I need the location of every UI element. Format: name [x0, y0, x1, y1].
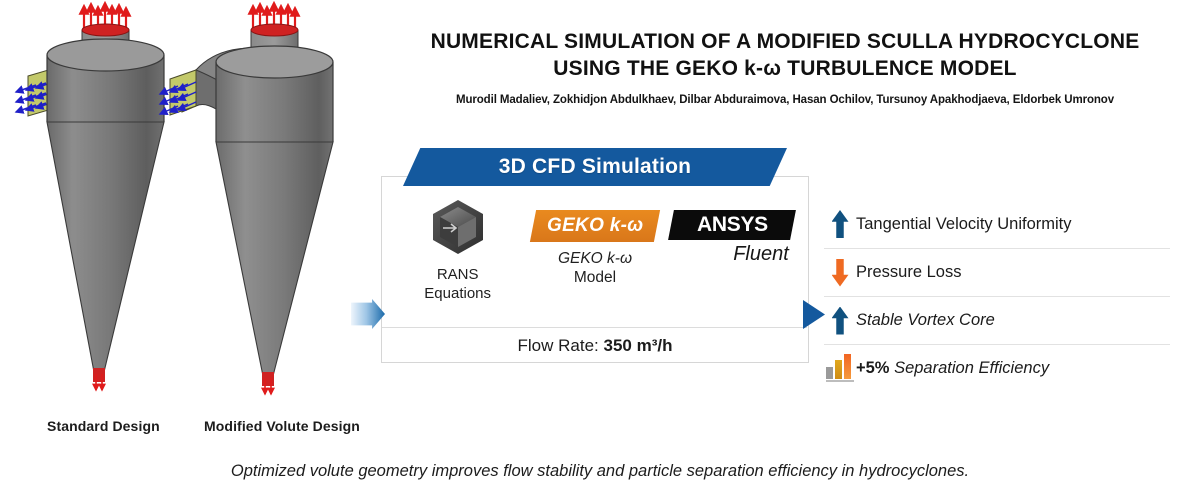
result-label: Pressure Loss	[856, 263, 961, 282]
arrow-down-icon	[824, 259, 856, 287]
flow-rate-label: Flow Rate:	[518, 336, 599, 356]
method-rans: RANS Equations	[395, 196, 520, 303]
panel-banner-title: 3D CFD Simulation	[403, 148, 787, 186]
geko-logo-text: GEKO k-ω	[547, 215, 643, 237]
ansys-logo-text: ANSYS	[697, 213, 768, 237]
method-rans-line1: RANS	[437, 266, 479, 283]
method-geko: GEKO k-ω GEKO k-ω Model	[532, 196, 657, 287]
outflow-arrow-icon	[803, 300, 825, 329]
method-geko-line1: GEKO k-ω	[558, 250, 632, 267]
cyclone-diagram-svg	[0, 0, 395, 450]
result-label: +5% Separation Efficiency	[856, 359, 1049, 378]
flow-rate-value: 350 m³/h	[604, 336, 673, 356]
cube-icon	[395, 196, 520, 258]
hydrocyclone-illustrations: Standard Design Modified Volute Design	[0, 0, 395, 450]
standard-cyclone-figure	[16, 3, 164, 390]
arrow-up-icon	[824, 210, 856, 238]
result-label: Tangential Velocity Uniformity	[856, 215, 1072, 234]
title-line-2: USING THE GEKO k-ω TURBULENCE MODEL	[370, 55, 1200, 82]
bar-chart-icon	[824, 356, 856, 382]
figure-caption: Optimized volute geometry improves flow …	[0, 462, 1200, 481]
graphical-abstract: Standard Design Modified Volute Design N…	[0, 0, 1200, 501]
method-rans-line2: Equations	[424, 285, 491, 302]
standard-design-label: Standard Design	[47, 418, 160, 434]
title-line-1: NUMERICAL SIMULATION OF A MODIFIED SCULL…	[370, 28, 1200, 55]
method-geko-caption: GEKO k-ω Model	[532, 249, 657, 287]
result-row: Stable Vortex Core	[824, 296, 1170, 344]
ansys-logo: ANSYS	[668, 210, 796, 240]
title-block: NUMERICAL SIMULATION OF A MODIFIED SCULL…	[370, 28, 1200, 106]
result-label: Stable Vortex Core	[856, 311, 995, 330]
separation-efficiency-value: +5%	[856, 359, 889, 377]
modified-design-label: Modified Volute Design	[204, 418, 360, 434]
modified-cyclone-figure	[160, 3, 333, 394]
separation-efficiency-label: Separation Efficiency	[894, 359, 1049, 377]
result-row: Tangential Velocity Uniformity	[824, 200, 1170, 248]
result-row: Pressure Loss	[824, 248, 1170, 296]
flow-rate-row: Flow Rate: 350 m³/h	[381, 330, 809, 362]
method-ansys: ANSYS Fluent	[670, 196, 795, 266]
method-rans-caption: RANS Equations	[395, 265, 520, 303]
author-list: Murodil Madaliev, Zokhidjon Abdulkhaev, …	[370, 94, 1200, 106]
geko-logo: GEKO k-ω	[530, 210, 660, 242]
ansys-fluent-text: Fluent	[670, 243, 795, 266]
results-list: Tangential Velocity Uniformity Pressure …	[824, 200, 1170, 392]
panel-divider	[382, 327, 807, 328]
result-row: +5% Separation Efficiency	[824, 344, 1170, 392]
arrow-up-icon	[824, 307, 856, 335]
methods-row: RANS Equations GEKO k-ω GEKO k-ω Model A…	[381, 196, 809, 318]
method-geko-line2: Model	[574, 269, 616, 286]
